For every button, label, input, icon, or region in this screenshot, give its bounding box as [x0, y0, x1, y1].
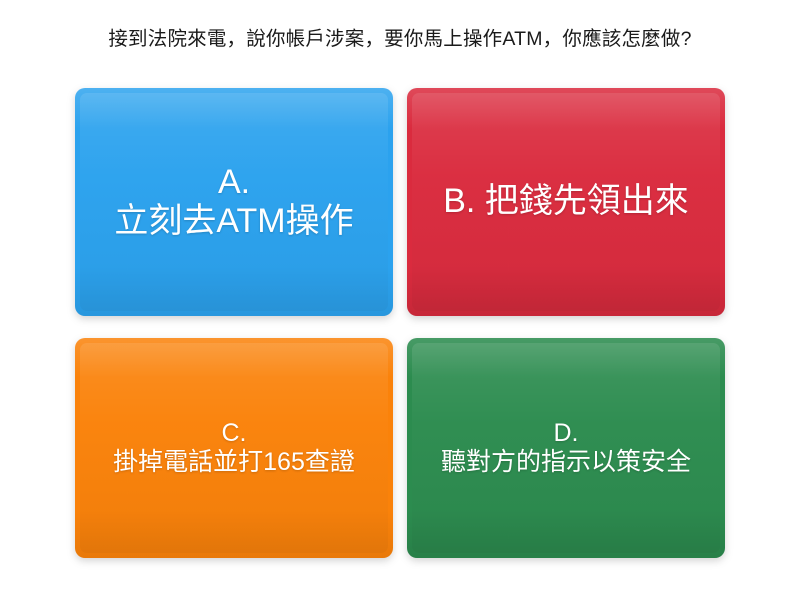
- answer-options-grid: A. 立刻去ATM操作 B. 把錢先領出來 C. 掛掉電話並打165查證 D. …: [0, 78, 800, 588]
- answer-option-b-text: B. 把錢先領出來: [443, 182, 689, 221]
- answer-option-c-text: C. 掛掉電話並打165查證: [113, 419, 355, 477]
- question-text: 接到法院來電，說你帳戶涉案，要你馬上操作ATM，你應該怎麼做?: [108, 27, 691, 51]
- answer-option-d-text: D. 聽對方的指示以策安全: [441, 419, 691, 477]
- answer-option-b[interactable]: B. 把錢先領出來: [407, 88, 725, 316]
- answer-option-c-label: C.: [113, 419, 355, 448]
- answer-option-c-body: 掛掉電話並打165查證: [113, 448, 355, 477]
- answer-option-a-body: 立刻去ATM操作: [114, 202, 353, 241]
- answer-option-d-body: 聽對方的指示以策安全: [441, 448, 691, 477]
- answer-option-c[interactable]: C. 掛掉電話並打165查證: [75, 338, 393, 558]
- answer-option-a-label: A.: [114, 163, 353, 202]
- answer-option-a-text: A. 立刻去ATM操作: [114, 163, 353, 242]
- answer-option-b-label: B.: [443, 182, 475, 220]
- quiz-screen: 接到法院來電，說你帳戶涉案，要你馬上操作ATM，你應該怎麼做? A. 立刻去AT…: [0, 0, 800, 600]
- answer-option-d-label: D.: [441, 419, 691, 448]
- answer-option-b-body: 把錢先領出來: [485, 182, 689, 220]
- answer-option-a[interactable]: A. 立刻去ATM操作: [75, 88, 393, 316]
- question-bar: 接到法院來電，說你帳戶涉案，要你馬上操作ATM，你應該怎麼做?: [0, 0, 800, 78]
- answer-option-d[interactable]: D. 聽對方的指示以策安全: [407, 338, 725, 558]
